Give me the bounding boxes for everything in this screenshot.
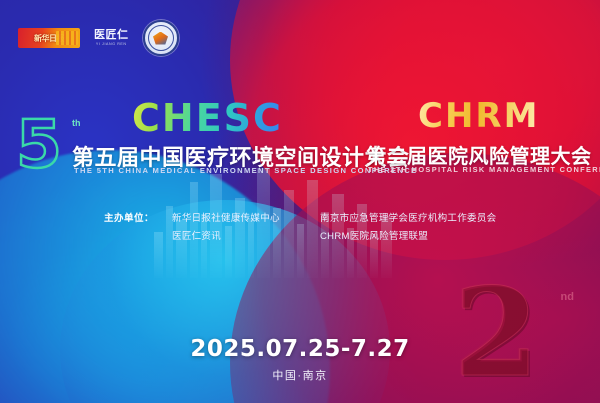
event-location: 中国·南京 [0,367,600,383]
chrm-title-en: THE 2TH HOSPITAL RISK MANAGEMENT CONFERE… [368,165,600,174]
yijiangren-logo-en: YI JIANG REN [94,43,129,47]
association-emblem-logo [143,20,179,56]
organizers-column-right: 南京市应急管理学会医疗机构工作委员会 CHRM医院风险管理联盟 [320,210,496,246]
event-date: 2025.07.25-7.27 [0,336,600,362]
organizer-item: 南京市应急管理学会医疗机构工作委员会 [320,210,496,228]
yijiangren-logo: 医匠仁 YI JIANG REN [94,30,129,47]
organizers-column-left: 新华日报社健康传媒中心 医匠仁资讯 [172,210,320,246]
chrm-acronym: CHRM [418,96,539,136]
chesc-acronym: CHESC [132,96,283,140]
sponsor-logo-row: 新华日报 医匠仁 YI JIANG REN [18,20,179,56]
organizers-label: 主办单位： [104,210,154,246]
left-conference-block: 5 th CHESC 第五届中国医疗环境空间设计大会 THE 5TH CHINA… [14,96,358,186]
conference-poster: 新华日报 医匠仁 YI JIANG REN 5 th CHESC 第五届中国医疗… [0,0,600,403]
emblem-shield-icon [153,32,168,45]
yijiangren-logo-cn: 医匠仁 [94,30,129,41]
organizer-item: 医匠仁资讯 [172,228,320,246]
xinhua-logo-text: 新华日报 [34,33,64,44]
organizers-section: 主办单位： 新华日报社健康传媒中心 医匠仁资讯 南京市应急管理学会医疗机构工作委… [104,210,496,246]
organizer-item: 新华日报社健康传媒中心 [172,210,320,228]
left-edition-suffix: th [72,118,81,128]
left-edition-number: 5 [16,112,60,178]
organizer-item: CHRM医院风险管理联盟 [320,228,496,246]
xinhua-daily-logo: 新华日报 [18,28,80,48]
event-date-block: 2025.07.25-7.27 中国·南京 [0,336,600,383]
decorative-two-suffix: nd [561,291,574,303]
right-conference-block: CHRM 第二届医院风险管理大会 THE 2TH HOSPITAL RISK M… [366,96,592,186]
